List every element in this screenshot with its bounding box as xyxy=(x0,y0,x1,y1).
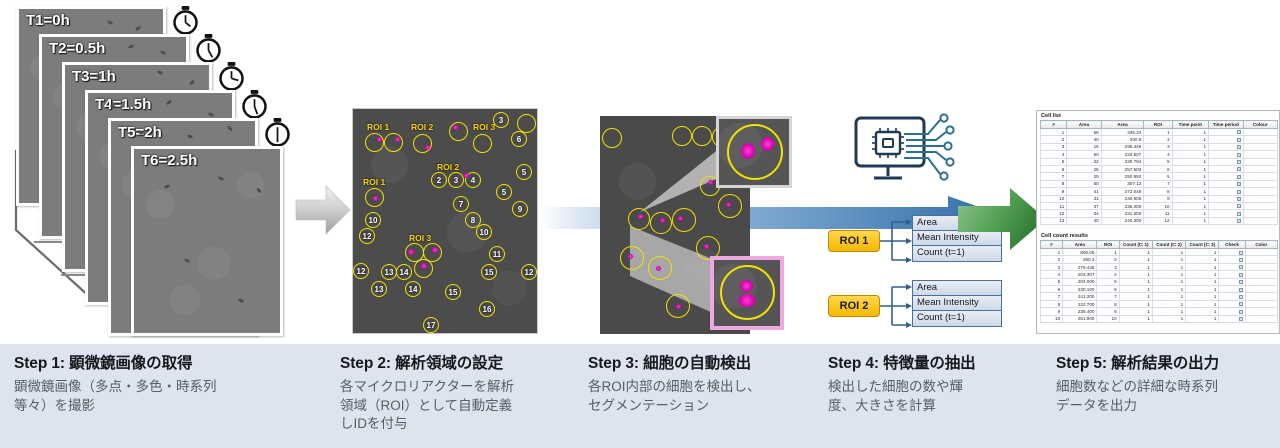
table-cell[interactable]: 1 xyxy=(1152,315,1185,322)
color-swatch-cell[interactable] xyxy=(1243,195,1278,202)
table-cell[interactable]: 1 xyxy=(1152,300,1185,307)
table-cell[interactable]: 2 xyxy=(1041,136,1067,143)
caption-body: 各マイクロリアクターを解析 領域（ROI）として自動定義 しIDを付与 xyxy=(340,378,548,434)
table-cell[interactable]: 10 xyxy=(1097,315,1119,322)
table-cell[interactable]: 1 xyxy=(1172,165,1208,172)
check-cell[interactable] xyxy=(1209,165,1243,172)
caption-title: Step 2: 解析領域の設定 xyxy=(340,354,548,374)
table-cell[interactable]: 8 xyxy=(1041,300,1063,307)
table-row[interactable]: 450233.50741 xyxy=(1041,151,1278,158)
table-cell[interactable]: 1 xyxy=(1041,129,1067,136)
caption-title: Step 4: 特徴量の抽出 xyxy=(828,354,1008,374)
table-cell[interactable]: 238.400 xyxy=(1063,308,1097,315)
table-cell[interactable]: 1 xyxy=(1172,195,1208,202)
cell-id-circle: 15 xyxy=(445,284,461,300)
table-cell[interactable]: 1 xyxy=(1186,286,1219,293)
color-swatch-cell[interactable] xyxy=(1243,129,1278,136)
table-row[interactable]: 7241.2007111 xyxy=(1041,293,1278,300)
checkbox-icon[interactable] xyxy=(1237,160,1241,164)
table-cell[interactable]: 40 xyxy=(1067,217,1101,224)
table-cell[interactable]: 1 xyxy=(1172,210,1208,217)
table-cell[interactable]: 1 xyxy=(1152,249,1185,256)
check-cell[interactable] xyxy=(1209,180,1243,187)
table-cell[interactable]: 230.100 xyxy=(1063,286,1097,293)
table-cell[interactable]: 8 xyxy=(1097,300,1119,307)
table-cell[interactable]: 5 xyxy=(1041,158,1067,165)
table-cell[interactable]: 7 xyxy=(1097,293,1119,300)
table-cell[interactable]: 1 xyxy=(1172,151,1208,158)
table-cell[interactable]: 60 xyxy=(1067,180,1101,187)
table-cell[interactable]: 4 xyxy=(1144,151,1172,158)
table-cell[interactable]: 50 xyxy=(1067,151,1101,158)
table-cell[interactable]: 1 xyxy=(1186,308,1219,315)
table-cell[interactable]: 1 xyxy=(1172,136,1208,143)
check-cell[interactable] xyxy=(1219,286,1245,293)
table-cell[interactable]: 37 xyxy=(1067,202,1101,209)
table-cell[interactable]: 1 xyxy=(1119,263,1152,270)
table-cell[interactable]: 203.307 xyxy=(1063,271,1097,278)
feature-connector xyxy=(880,281,914,335)
check-cell[interactable] xyxy=(1219,300,1245,307)
color-swatch-cell[interactable] xyxy=(1245,286,1277,293)
table-cell[interactable]: 12 xyxy=(1144,217,1172,224)
table-cell[interactable]: 230.794 xyxy=(1101,158,1144,165)
col-head[interactable]: Time point xyxy=(1172,121,1208,129)
col-head[interactable]: Area xyxy=(1063,241,1097,249)
table-cell[interactable]: 1 xyxy=(1097,249,1119,256)
color-swatch-cell[interactable] xyxy=(1245,300,1277,307)
table-cell[interactable]: 233.507 xyxy=(1101,151,1144,158)
zoom-inset-top xyxy=(716,116,792,188)
cell-id-circle: 14 xyxy=(396,264,412,280)
check-cell[interactable] xyxy=(1209,136,1243,143)
caption-line: しIDを付与 xyxy=(340,415,548,434)
checkbox-icon[interactable] xyxy=(1239,273,1243,277)
table-cell[interactable]: 1 xyxy=(1172,180,1208,187)
roi-circle xyxy=(384,133,403,152)
cell-id-circle: 12 xyxy=(359,228,375,244)
table-cell[interactable]: 235.000 xyxy=(1101,202,1144,209)
check-cell[interactable] xyxy=(1209,158,1243,165)
roi-circle xyxy=(413,134,432,153)
cell-id-circle: 3 xyxy=(493,112,509,128)
roi-tag-box[interactable]: ROI 1 xyxy=(828,230,880,252)
check-cell[interactable] xyxy=(1209,210,1243,217)
table-row[interactable]: 4203.3074111 xyxy=(1041,271,1278,278)
col-head[interactable]: Colour xyxy=(1243,121,1278,129)
table-cell[interactable]: 22 xyxy=(1067,158,1101,165)
roi-label: ROI 2 xyxy=(411,122,433,132)
table-cell[interactable]: 25 xyxy=(1067,173,1101,180)
table-cell[interactable]: 11 xyxy=(1144,210,1172,217)
check-cell[interactable] xyxy=(1219,263,1245,270)
color-swatch-cell[interactable] xyxy=(1245,249,1277,256)
table-cell[interactable]: 200.8 xyxy=(1101,136,1144,143)
table-row[interactable]: 725250.99251 xyxy=(1041,173,1278,180)
col-head[interactable]: Time period xyxy=(1209,121,1243,129)
caption-line: 各マイクロリアクターを解析 xyxy=(340,378,548,397)
table-row[interactable]: 1340240.300121 xyxy=(1041,217,1278,224)
check-cell[interactable] xyxy=(1219,308,1245,315)
roi-circle xyxy=(672,126,692,146)
table-cell[interactable]: 31 xyxy=(1067,195,1101,202)
caption-step5: Step 5: 解析結果の出力 細胞数などの詳細な時系列 データを出力 xyxy=(1056,354,1268,415)
checkbox-icon[interactable] xyxy=(1237,212,1241,216)
checkbox-icon[interactable] xyxy=(1239,251,1243,255)
col-head[interactable]: Area xyxy=(1101,121,1144,129)
checkbox-icon[interactable] xyxy=(1239,302,1243,306)
table1-title: Cell list xyxy=(1037,111,1279,120)
caption-line: 各ROI内部の細胞を検出し、 xyxy=(588,378,784,397)
table-cell[interactable]: 2 xyxy=(1097,256,1119,263)
col-head[interactable]: # xyxy=(1041,241,1063,249)
roi-tag-box[interactable]: ROI 2 xyxy=(828,295,880,317)
check-cell[interactable] xyxy=(1219,271,1245,278)
table-cell[interactable]: 9 xyxy=(1097,308,1119,315)
table-cell[interactable]: 10 xyxy=(1041,195,1067,202)
caption-line: 細胞数などの詳細な時系列 xyxy=(1056,378,1268,397)
table-cell[interactable]: 56 xyxy=(1067,129,1101,136)
table-cell[interactable]: 34 xyxy=(1067,210,1101,217)
checkbox-icon[interactable] xyxy=(1239,280,1243,284)
check-cell[interactable] xyxy=(1209,188,1243,195)
table-cell[interactable]: 204.000 xyxy=(1063,278,1097,285)
table-row[interactable]: 1234231.500111 xyxy=(1041,210,1278,217)
color-swatch-cell[interactable] xyxy=(1243,210,1278,217)
roi-label: ROI 1 xyxy=(367,122,389,132)
table-cell[interactable]: 1 xyxy=(1186,263,1219,270)
caption-body: 顕微鏡画像（多点・多色・時系列 等々）を撮影 xyxy=(14,378,224,415)
col-head[interactable]: Count (t= 1) xyxy=(1119,241,1152,249)
checkbox-icon[interactable] xyxy=(1237,130,1241,134)
table-cell[interactable]: 5 xyxy=(1144,158,1172,165)
roi-label: ROI 3 xyxy=(409,233,431,243)
table-cell[interactable]: 272.046 xyxy=(1101,188,1144,195)
cell-id-circle: 17 xyxy=(423,317,439,333)
cell-id-circle: 10 xyxy=(476,224,492,240)
table-cell[interactable]: 3 xyxy=(1097,263,1119,270)
computer-chip-icon xyxy=(844,112,974,198)
roi-circle xyxy=(473,134,492,153)
caption-step3: Step 3: 細胞の自動検出 各ROI内部の細胞を検出し、 セグメンテーション xyxy=(588,354,784,415)
table-cell[interactable]: 1 xyxy=(1186,256,1219,263)
table-cell[interactable]: 295.445 xyxy=(1101,143,1144,150)
checkbox-icon[interactable] xyxy=(1239,310,1243,314)
col-head[interactable]: Check xyxy=(1219,241,1245,249)
table-row[interactable]: 1031240.90591 xyxy=(1041,195,1278,202)
table-header-row: # Area ROI Count (t= 1) Count (t= 2) Cou… xyxy=(1041,241,1278,249)
color-swatch-cell[interactable] xyxy=(1245,315,1277,322)
table-cell[interactable]: 7 xyxy=(1041,293,1063,300)
table-cell[interactable]: 241.200 xyxy=(1063,293,1097,300)
table-cell[interactable]: 1 xyxy=(1152,263,1185,270)
workflow-figure: T1=0h T2=0.5h T3=1h T4=1.5h xyxy=(0,0,1280,448)
table-row[interactable]: 941272.04681 xyxy=(1041,188,1278,195)
table-cell[interactable]: 800.06 xyxy=(1063,249,1097,256)
check-cell[interactable] xyxy=(1209,217,1243,224)
stopwatch-icon xyxy=(195,34,222,63)
table-cell[interactable]: 1 xyxy=(1172,217,1208,224)
table-cell[interactable]: 6 xyxy=(1041,165,1067,172)
table-cell[interactable]: 2 xyxy=(1144,136,1172,143)
cell-id-circle: 13 xyxy=(371,281,387,297)
checkbox-icon[interactable] xyxy=(1237,145,1241,149)
roi-circle xyxy=(449,122,468,141)
table-row[interactable]: 625257.50361 xyxy=(1041,165,1278,172)
table-cell[interactable]: 257.503 xyxy=(1101,165,1144,172)
table-cell[interactable]: 222.700 xyxy=(1063,300,1097,307)
table-row[interactable]: 2260.32111 xyxy=(1041,256,1278,263)
table-cell[interactable]: 1 xyxy=(1172,129,1208,136)
check-cell[interactable] xyxy=(1209,173,1243,180)
arrow-to-results-green xyxy=(958,186,1048,252)
cell-id-circle: 6 xyxy=(511,131,527,147)
table-cell[interactable]: 1 xyxy=(1119,293,1152,300)
table-cell[interactable]: 2 xyxy=(1041,256,1063,263)
table-cell[interactable]: 10 xyxy=(1144,202,1172,209)
color-swatch-cell[interactable] xyxy=(1243,217,1278,224)
cell-id-circle: 5 xyxy=(496,184,512,200)
table-row[interactable]: 6230.1006111 xyxy=(1041,286,1278,293)
table-cell[interactable]: 10 xyxy=(1041,315,1063,322)
color-swatch-cell[interactable] xyxy=(1245,308,1277,315)
checkbox-icon[interactable] xyxy=(1237,190,1241,194)
checkbox-icon[interactable] xyxy=(1239,288,1243,292)
table-cell[interactable]: 8 xyxy=(1144,188,1172,195)
table-header-row: # Area Area ROI Time point Time period C… xyxy=(1041,121,1278,129)
color-swatch-cell[interactable] xyxy=(1243,136,1278,143)
table-cell[interactable]: 7 xyxy=(1041,173,1067,180)
caption-title: Step 3: 細胞の自動検出 xyxy=(588,354,784,374)
table-cell[interactable]: 7 xyxy=(1144,180,1172,187)
table-cell[interactable]: 9 xyxy=(1144,195,1172,202)
table-cell[interactable]: 1 xyxy=(1152,293,1185,300)
color-swatch-cell[interactable] xyxy=(1245,263,1277,270)
table-cell[interactable]: 1 xyxy=(1172,143,1208,150)
table-cell[interactable]: 6 xyxy=(1041,286,1063,293)
caption-line: 等々）を撮影 xyxy=(14,397,224,416)
table-cell[interactable]: 1 xyxy=(1152,278,1185,285)
table-cell[interactable]: 13 xyxy=(1041,217,1067,224)
roi-label: ROI 3 xyxy=(473,122,495,132)
table-row[interactable]: 522230.79451 xyxy=(1041,158,1278,165)
checkbox-icon[interactable] xyxy=(1239,295,1243,299)
table-cell[interactable]: 4 xyxy=(1041,151,1067,158)
color-swatch-cell[interactable] xyxy=(1245,293,1277,300)
color-swatch-cell[interactable] xyxy=(1245,271,1277,278)
table-row[interactable]: 860307.1271 xyxy=(1041,180,1278,187)
table-cell[interactable]: 9 xyxy=(1041,308,1063,315)
check-cell[interactable] xyxy=(1209,195,1243,202)
cell-id-circle: 3 xyxy=(448,172,464,188)
check-cell[interactable] xyxy=(1219,256,1245,263)
table-row[interactable]: 1800.061111 xyxy=(1041,249,1278,256)
table-cell[interactable]: 40 xyxy=(1067,136,1101,143)
checkbox-icon[interactable] xyxy=(1237,175,1241,179)
table-row[interactable]: 3279.4453111 xyxy=(1041,263,1278,270)
table-cell[interactable]: 41 xyxy=(1067,188,1101,195)
table-cell[interactable]: 1 xyxy=(1186,300,1219,307)
feature-item: Mean Intensity xyxy=(913,296,1001,311)
table-cell[interactable]: 1 xyxy=(1186,249,1219,256)
feature-item: Area xyxy=(913,281,1001,296)
caption-line: 度、大きさを計算 xyxy=(828,397,1008,416)
table-cell[interactable]: 4 xyxy=(1097,271,1119,278)
color-swatch-cell[interactable] xyxy=(1245,256,1277,263)
cell-list-table[interactable]: # Area Area ROI Time point Time period C… xyxy=(1040,120,1278,225)
table-cell[interactable]: 5 xyxy=(1041,278,1063,285)
table-cell[interactable]: 1 xyxy=(1152,308,1185,315)
caption-body: 各ROI内部の細胞を検出し、 セグメンテーション xyxy=(588,378,784,415)
table-cell[interactable]: 8 xyxy=(1041,180,1067,187)
table-cell[interactable]: 1 xyxy=(1119,315,1152,322)
caption-step1: Step 1: 顕微鏡画像の取得 顕微鏡画像（多点・多色・時系列 等々）を撮影 xyxy=(14,354,224,415)
table-cell[interactable]: 1 xyxy=(1172,188,1208,195)
cell-id-circle: 10 xyxy=(365,212,381,228)
checkbox-icon[interactable] xyxy=(1239,317,1243,321)
col-head[interactable]: Color xyxy=(1245,241,1277,249)
checkbox-icon[interactable] xyxy=(1237,167,1241,171)
col-head[interactable]: ROI xyxy=(1097,241,1119,249)
caption-line: 領域（ROI）として自動定義 xyxy=(340,397,548,416)
table-cell[interactable]: 3 xyxy=(1041,263,1063,270)
timepoint-label: T6=2.5h xyxy=(141,152,197,169)
caption-title: Step 5: 解析結果の出力 xyxy=(1056,354,1268,374)
table-row[interactable]: 315295.44531 xyxy=(1041,143,1278,150)
table2-title: Cell count results xyxy=(1037,231,1279,240)
table-cell[interactable]: 1 xyxy=(1119,256,1152,263)
checkbox-icon[interactable] xyxy=(1237,219,1241,223)
color-swatch-cell[interactable] xyxy=(1243,173,1278,180)
col-head[interactable]: Count (t= 3) xyxy=(1186,241,1219,249)
table-cell[interactable]: 1 xyxy=(1152,286,1185,293)
cell-id-circle: 7 xyxy=(453,196,469,212)
cell-count-table[interactable]: # Area ROI Count (t= 1) Count (t= 2) Cou… xyxy=(1040,240,1278,323)
arrow-step1-to-step2 xyxy=(294,182,352,238)
checkbox-icon[interactable] xyxy=(1237,138,1241,142)
table-cell[interactable]: 5 xyxy=(1097,278,1119,285)
table-cell[interactable]: 1 xyxy=(1144,129,1172,136)
table-cell[interactable]: 1 xyxy=(1119,271,1152,278)
caption-line: データを出力 xyxy=(1056,397,1268,416)
check-cell[interactable] xyxy=(1219,278,1245,285)
table-cell[interactable]: 3 xyxy=(1041,143,1067,150)
checkbox-icon[interactable] xyxy=(1237,182,1241,186)
table-cell[interactable]: 240.300 xyxy=(1101,217,1144,224)
table-cell[interactable]: 4 xyxy=(1041,271,1063,278)
table-cell[interactable]: 15 xyxy=(1067,143,1101,150)
checkbox-icon[interactable] xyxy=(1237,204,1241,208)
caption-step4: Step 4: 特徴量の抽出 検出した細胞の数や輝 度、大きさを計算 xyxy=(828,354,1008,415)
cell-id-circle: 9 xyxy=(512,201,528,217)
color-swatch-cell[interactable] xyxy=(1243,143,1278,150)
color-swatch-cell[interactable] xyxy=(1243,165,1278,172)
table-cell[interactable]: 251.900 xyxy=(1063,315,1097,322)
color-swatch-cell[interactable] xyxy=(1243,151,1278,158)
table-cell[interactable]: 1 xyxy=(1186,271,1219,278)
stopwatch-icon xyxy=(218,62,245,91)
table-cell[interactable]: 6 xyxy=(1097,286,1119,293)
timepoint-frame: T6=2.5h xyxy=(131,146,283,336)
table-cell[interactable]: 240.905 xyxy=(1101,195,1144,202)
color-swatch-cell[interactable] xyxy=(1243,158,1278,165)
check-cell[interactable] xyxy=(1209,129,1243,136)
table-cell[interactable]: 1 xyxy=(1119,300,1152,307)
table-row[interactable]: 156336.3411 xyxy=(1041,129,1278,136)
table-cell[interactable]: 1 xyxy=(1186,293,1219,300)
table-row[interactable]: 8222.7008111 xyxy=(1041,300,1278,307)
col-head[interactable]: Count (t= 2) xyxy=(1152,241,1185,249)
table-cell[interactable]: 1 xyxy=(1119,286,1152,293)
table-cell[interactable]: 260.3 xyxy=(1063,256,1097,263)
color-swatch-cell[interactable] xyxy=(1245,278,1277,285)
check-cell[interactable] xyxy=(1209,202,1243,209)
table-row[interactable]: 240200.821 xyxy=(1041,136,1278,143)
color-swatch-cell[interactable] xyxy=(1243,180,1278,187)
table-row[interactable]: 1137235.000101 xyxy=(1041,202,1278,209)
checkbox-icon[interactable] xyxy=(1237,197,1241,201)
col-head[interactable]: # xyxy=(1041,121,1067,129)
table-cell[interactable]: 3 xyxy=(1144,143,1172,150)
table-cell[interactable]: 1 xyxy=(1152,256,1185,263)
caption-line: 顕微鏡画像（多点・多色・時系列 xyxy=(14,378,224,397)
cell-id-circle: 11 xyxy=(489,246,505,262)
table-cell[interactable]: 1 xyxy=(1172,158,1208,165)
cell-id-circle: 16 xyxy=(479,301,495,317)
check-cell[interactable] xyxy=(1209,151,1243,158)
checkbox-icon[interactable] xyxy=(1239,265,1243,269)
table-cell[interactable]: 1 xyxy=(1119,249,1152,256)
cell-id-circle: 12 xyxy=(521,264,537,280)
check-cell[interactable] xyxy=(1209,143,1243,150)
table-row[interactable]: 9238.4009111 xyxy=(1041,308,1278,315)
table-cell[interactable]: 6 xyxy=(1144,165,1172,172)
table-cell[interactable]: 1 xyxy=(1172,173,1208,180)
table-cell[interactable]: 250.992 xyxy=(1101,173,1144,180)
table-cell[interactable]: 307.12 xyxy=(1101,180,1144,187)
table-row[interactable]: 10251.90010111 xyxy=(1041,315,1278,322)
table-cell[interactable]: 279.445 xyxy=(1063,263,1097,270)
caption-body: 検出した細胞の数や輝 度、大きさを計算 xyxy=(828,378,1008,415)
table-cell[interactable]: 1 xyxy=(1186,278,1219,285)
table-row[interactable]: 5204.0005111 xyxy=(1041,278,1278,285)
table-cell[interactable]: 1 xyxy=(1152,271,1185,278)
table-cell[interactable]: 11 xyxy=(1041,202,1067,209)
checkbox-icon[interactable] xyxy=(1237,153,1241,157)
table-cell[interactable]: 1 xyxy=(1186,315,1219,322)
table-cell[interactable]: 336.34 xyxy=(1101,129,1144,136)
color-swatch-cell[interactable] xyxy=(1243,202,1278,209)
checkbox-icon[interactable] xyxy=(1239,258,1243,262)
check-cell[interactable] xyxy=(1219,293,1245,300)
table-cell[interactable]: 1 xyxy=(1119,278,1152,285)
table-cell[interactable]: 5 xyxy=(1144,173,1172,180)
col-head[interactable]: ROI xyxy=(1144,121,1172,129)
caption-line: 検出した細胞の数や輝 xyxy=(828,378,1008,397)
table-cell[interactable]: 1 xyxy=(1041,249,1063,256)
table-cell[interactable]: 231.500 xyxy=(1101,210,1144,217)
table-cell[interactable]: 25 xyxy=(1067,165,1101,172)
check-cell[interactable] xyxy=(1219,249,1245,256)
table-cell[interactable]: 9 xyxy=(1041,188,1067,195)
table-cell[interactable]: 1 xyxy=(1119,308,1152,315)
table-cell[interactable]: 1 xyxy=(1172,202,1208,209)
col-head[interactable]: Area xyxy=(1067,121,1101,129)
table-cell[interactable]: 12 xyxy=(1041,210,1067,217)
timepoint-label: T2=0.5h xyxy=(49,40,105,57)
color-swatch-cell[interactable] xyxy=(1243,188,1278,195)
check-cell[interactable] xyxy=(1219,315,1245,322)
